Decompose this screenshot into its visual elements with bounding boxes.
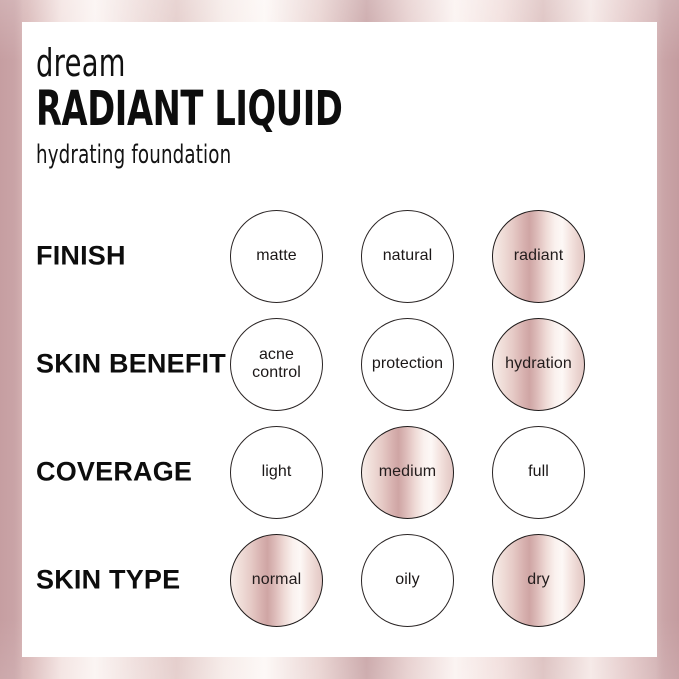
attribute-row-label: SKIN BENEFIT [36,349,226,380]
option-circle[interactable]: protection [361,318,454,411]
option-circle[interactable]: acne control [230,318,323,411]
attribute-option-group: mattenaturalradiant [230,202,585,310]
option-label: normal [252,571,302,589]
option-label: light [262,463,292,481]
attribute-row: SKIN TYPEnormaloilydry [22,526,657,634]
option-label: full [528,463,549,481]
attribute-option-group: normaloilydry [230,526,585,634]
option-label: hydration [505,355,572,373]
option-circle[interactable]: light [230,426,323,519]
attribute-matrix: FINISHmattenaturalradiantSKIN BENEFITacn… [22,202,657,634]
option-circle[interactable]: full [492,426,585,519]
option-label: radiant [514,247,564,265]
attribute-row: FINISHmattenaturalradiant [22,202,657,310]
option-label: acne control [252,346,301,382]
attribute-row-label: SKIN TYPE [36,565,180,596]
attribute-row-label: FINISH [36,241,126,272]
option-label: natural [383,247,433,265]
attribute-row: COVERAGElightmediumfull [22,418,657,526]
option-circle[interactable]: matte [230,210,323,303]
product-attribute-poster: dream RADIANT LIQUID hydrating foundatio… [0,0,679,679]
attribute-option-group: lightmediumfull [230,418,585,526]
option-circle-selected[interactable]: normal [230,534,323,627]
option-label: medium [379,463,437,481]
product-descriptor: hydrating foundation [36,142,342,168]
attribute-row: SKIN BENEFITacne controlprotectionhydrat… [22,310,657,418]
option-circle[interactable]: oily [361,534,454,627]
attribute-row-label: COVERAGE [36,457,192,488]
product-title-block: dream RADIANT LIQUID hydrating foundatio… [36,44,429,168]
attribute-option-group: acne controlprotectionhydration [230,310,585,418]
brand-word: dream [36,44,350,82]
option-circle-selected[interactable]: radiant [492,210,585,303]
option-circle-selected[interactable]: dry [492,534,585,627]
option-label: oily [395,571,419,589]
white-content-card: dream RADIANT LIQUID hydrating foundatio… [22,22,657,657]
option-label: protection [372,355,443,373]
option-circle[interactable]: natural [361,210,454,303]
product-name: RADIANT LIQUID [36,85,342,135]
option-label: matte [256,247,297,265]
option-label: dry [527,571,550,589]
option-circle-selected[interactable]: hydration [492,318,585,411]
option-circle-selected[interactable]: medium [361,426,454,519]
